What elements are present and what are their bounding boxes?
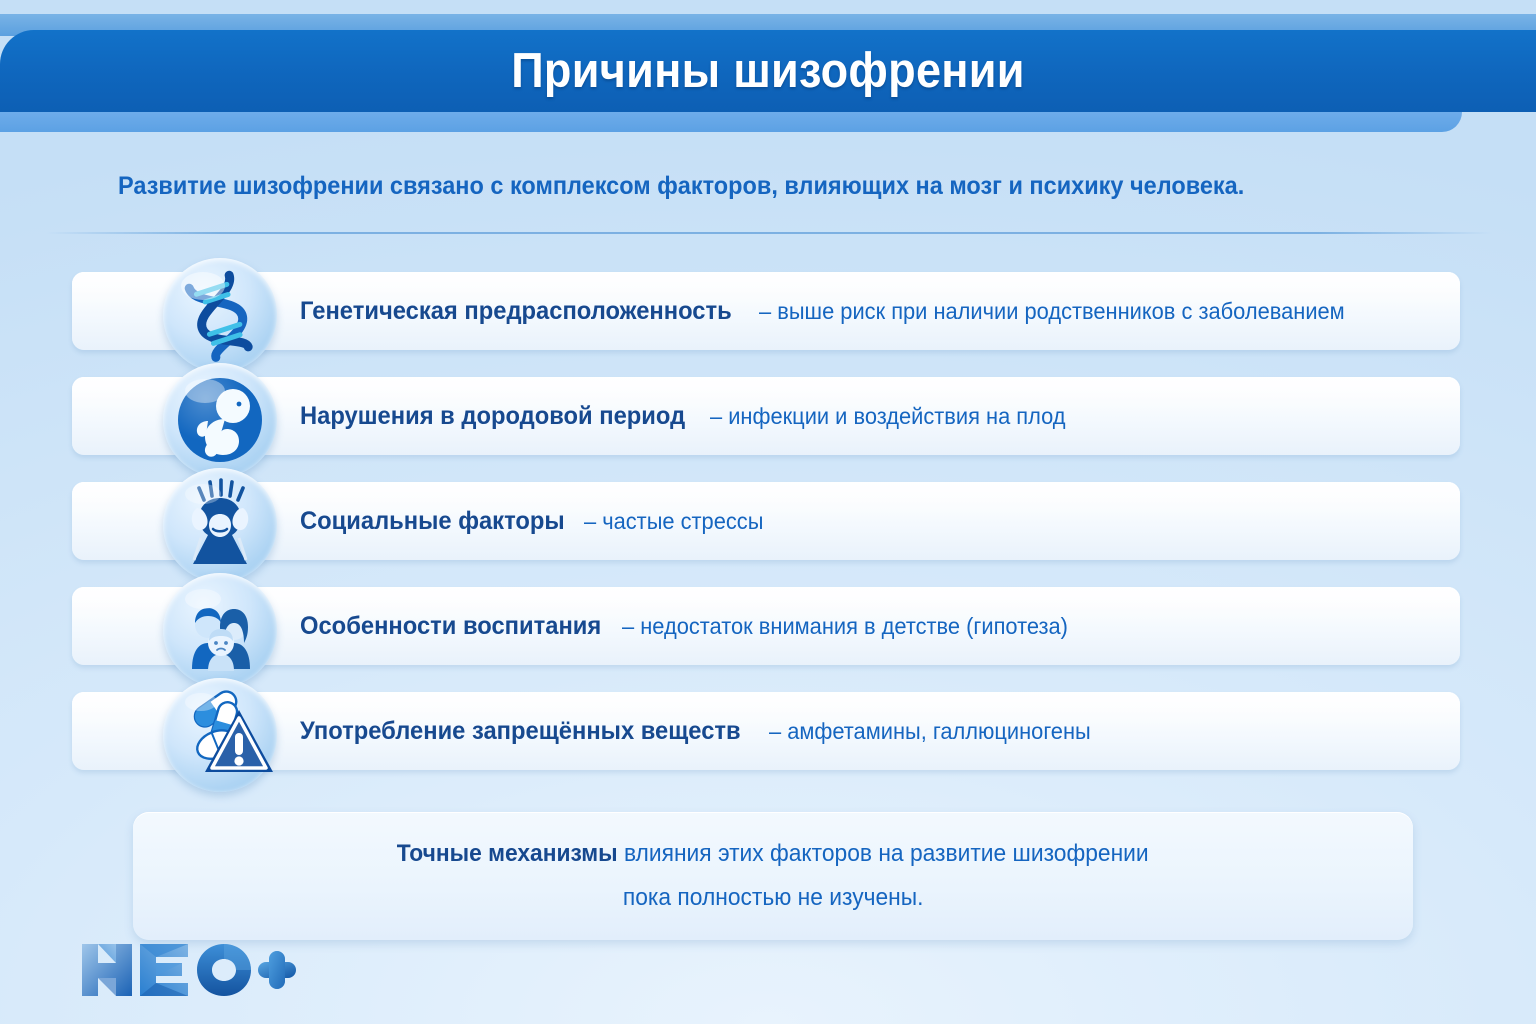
- neo-plus-logo[interactable]: [78, 938, 298, 1000]
- factor-desc: – выше риск при наличии родственников с …: [759, 298, 1345, 325]
- factor-text: Употребление запрещённых веществ – амфет…: [300, 686, 1108, 776]
- page-title: Причины шизофрении: [61, 30, 1474, 112]
- stress-person-icon: [163, 468, 277, 582]
- factor-desc: – инфекции и воздействия на плод: [710, 403, 1066, 430]
- fetus-icon: [163, 363, 277, 477]
- footnote-box: Точные механизмы влияния этих факторов н…: [133, 812, 1413, 940]
- factor-list: Генетическая предрасположенность – выше …: [0, 266, 1536, 791]
- factor-text: Нарушения в дородовой период – инфекции …: [300, 371, 1085, 461]
- factor-desc: – недостаток внимания в детстве (гипотез…: [622, 613, 1068, 640]
- list-item[interactable]: Генетическая предрасположенность – выше …: [0, 266, 1536, 362]
- pills-warning-icon: [163, 678, 277, 792]
- list-item[interactable]: Нарушения в дородовой период – инфекции …: [0, 371, 1536, 467]
- footnote-line-1: Точные механизмы влияния этих факторов н…: [397, 832, 1149, 876]
- factor-title: Генетическая предрасположенность: [300, 297, 732, 326]
- intro-text: Развитие шизофрении связано с комплексом…: [118, 172, 1368, 201]
- family-icon: [163, 573, 277, 687]
- header-bottom-band: [0, 112, 1462, 132]
- dna-icon: [163, 258, 277, 372]
- factor-title: Нарушения в дородовой период: [300, 402, 685, 431]
- list-item[interactable]: Употребление запрещённых веществ – амфет…: [0, 686, 1536, 782]
- factor-title: Особенности воспитания: [300, 612, 601, 641]
- factor-desc: – амфетамины, галлюциногены: [769, 718, 1091, 745]
- factor-title: Социальные факторы: [300, 507, 565, 536]
- factor-title: Употребление запрещённых веществ: [300, 717, 741, 746]
- infographic-page: Причины шизофрении Развитие шизофрении с…: [0, 0, 1536, 1024]
- footnote-line-2: пока полностью не изучены.: [623, 876, 924, 920]
- list-item[interactable]: Социальные факторы – частые стрессы: [0, 476, 1536, 572]
- factor-text: Социальные факторы – частые стрессы: [300, 476, 772, 566]
- footnote-strong: Точные механизмы: [397, 840, 618, 867]
- factor-desc: – частые стрессы: [584, 508, 763, 535]
- intro-divider: [46, 232, 1492, 234]
- list-item[interactable]: Особенности воспитания – недостаток вним…: [0, 581, 1536, 677]
- factor-text: Особенности воспитания – недостаток вним…: [300, 581, 1092, 671]
- page-header: Причины шизофрении: [0, 0, 1536, 140]
- factor-text: Генетическая предрасположенность – выше …: [300, 266, 1376, 356]
- footnote-rest: влияния этих факторов на развитие шизофр…: [618, 840, 1149, 867]
